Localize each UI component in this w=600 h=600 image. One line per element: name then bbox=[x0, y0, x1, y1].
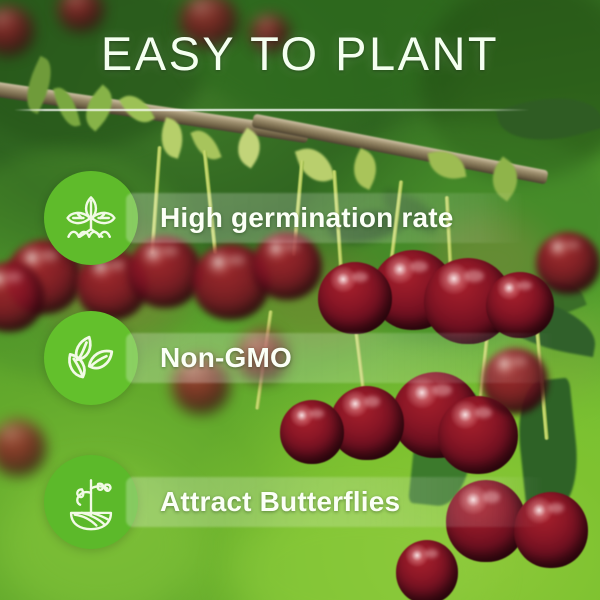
three-leaves-icon bbox=[62, 329, 120, 387]
feature-label-wrap-2: Non-GMO bbox=[160, 329, 292, 387]
feature-label-3: Attract Butterflies bbox=[160, 486, 400, 518]
feature-label-2: Non-GMO bbox=[160, 342, 292, 374]
feature-row-non-gmo: Non-GMO bbox=[44, 308, 292, 408]
feature-row-germination: High germination rate bbox=[44, 168, 454, 268]
sprout-with-roots-icon bbox=[61, 188, 121, 248]
promo-banner: EASY TO PLANT bbox=[0, 0, 600, 600]
page-title: EASY TO PLANT bbox=[0, 26, 600, 81]
feature-badge-1 bbox=[44, 171, 138, 265]
feature-badge-3 bbox=[44, 455, 138, 549]
cherry bbox=[396, 540, 458, 600]
feature-label-1: High germination rate bbox=[160, 202, 454, 234]
cherry bbox=[514, 492, 588, 568]
feature-label-wrap-1: High germination rate bbox=[160, 189, 454, 247]
title-divider bbox=[14, 109, 530, 111]
cherry bbox=[536, 232, 600, 294]
cherry bbox=[318, 262, 392, 334]
feature-badge-2 bbox=[44, 311, 138, 405]
feature-label-wrap-3: Attract Butterflies bbox=[160, 473, 400, 531]
feature-row-butterflies: Attract Butterflies bbox=[44, 452, 400, 552]
plant-in-soil-icon bbox=[62, 473, 120, 531]
cherry bbox=[482, 348, 548, 414]
